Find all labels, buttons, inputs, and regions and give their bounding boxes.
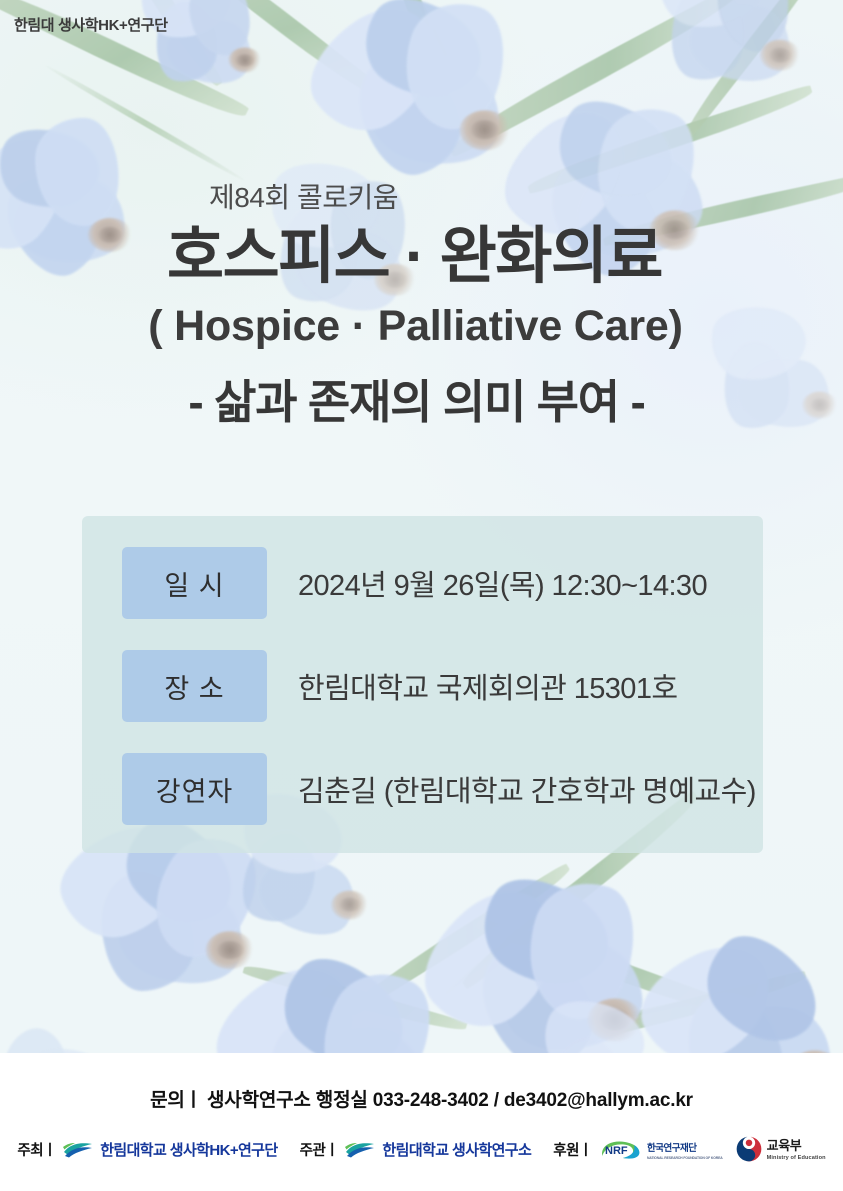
- flower-core: [331, 891, 368, 920]
- ministry-of-education-logo: 교육부 Ministry of Education: [736, 1136, 826, 1162]
- detail-label-speaker: 강연자: [122, 753, 267, 825]
- poster: 한림대 생사학HK+연구단 제84회 콜로키움 호스피스 · 완화의료 ( Ho…: [0, 0, 843, 1191]
- flower-core: [229, 47, 262, 72]
- leaf-decoration: [475, 911, 754, 1028]
- sponsor-lead-label: 후원ㅣ: [553, 1139, 592, 1160]
- petal: [652, 0, 769, 37]
- page-title: 호스피스 · 완화의료: [0, 224, 843, 291]
- flower-decoration: [700, 960, 843, 1053]
- petal: [248, 840, 368, 950]
- flower-core: [760, 40, 800, 71]
- petal: [661, 0, 756, 88]
- petal: [100, 871, 196, 992]
- petal: [510, 869, 651, 1030]
- table-row: 장 소 한림대학교 국제회의관 15301호: [122, 650, 763, 722]
- detail-value-date: 2024년 9월 26일(목) 12:30~14:30: [267, 562, 707, 604]
- hallym-wave-icon: [63, 1141, 93, 1158]
- headline-block: 제84회 콜로키움 호스피스 · 완화의료 ( Hospice · Pallia…: [0, 176, 843, 433]
- flower-decoration: [170, 0, 320, 130]
- flower-decoration: [490, 900, 740, 1053]
- moe-korean-name: 교육부: [767, 1138, 802, 1153]
- petal: [197, 950, 377, 1053]
- event-details-panel: 일 시 2024년 9월 26일(목) 12:30~14:30 장 소 한림대학…: [82, 516, 763, 853]
- petal: [696, 994, 839, 1053]
- organizer-group: 주관ㅣ 한림대학교 생사학연구소: [300, 1139, 532, 1160]
- flower-core: [206, 931, 254, 969]
- host-lead-label: 주최ㅣ: [17, 1139, 56, 1160]
- leaf-decoration: [562, 970, 809, 1047]
- organizer-name: 한림대학교 생사학연구소: [382, 1139, 531, 1160]
- nrf-english-name: NATIONAL RESEARCH FOUNDATION OF KOREA: [647, 1156, 723, 1160]
- nrf-korean-name: 한국연구재단: [647, 1143, 696, 1154]
- petal: [10, 1036, 117, 1053]
- page-tagline: - 삶과 존재의 의미 부여 -: [0, 373, 843, 433]
- petal: [159, 4, 261, 95]
- petal: [261, 1011, 383, 1053]
- flower-decoration: [280, 985, 530, 1053]
- flower-core: [588, 998, 643, 1041]
- host-name: 한림대학교 생사학HK+연구단: [100, 1139, 277, 1160]
- detail-value-place: 한림대학교 국제회의관 15301호: [267, 665, 677, 707]
- flower-core: [460, 110, 511, 150]
- petal: [688, 917, 833, 1053]
- petal: [681, 0, 800, 94]
- leaf-decoration: [171, 0, 388, 108]
- petal: [109, 872, 255, 998]
- hallym-wave-icon: [345, 1141, 375, 1158]
- leaf-decoration: [680, 0, 840, 137]
- flower-decoration: [570, 1030, 740, 1053]
- leaf-decoration: [242, 959, 468, 1038]
- petal: [347, 0, 496, 121]
- detail-value-speaker: 김춘길 (한림대학교 간호학과 명예교수): [267, 768, 756, 810]
- stem-decoration: [44, 63, 246, 183]
- leaf-decoration: [364, 0, 445, 81]
- nrf-text-block: 한국연구재단 NATIONAL RESEARCH FOUNDATION OF K…: [647, 1139, 723, 1160]
- petal: [298, 955, 451, 1053]
- leaf-decoration: [345, 862, 575, 1015]
- organizer-lead-label: 주관ㅣ: [300, 1139, 339, 1160]
- footer: 문의ㅣ 생사학연구소 행정실 033-248-3402 / de3402@hal…: [0, 1053, 843, 1191]
- moe-english-name: Ministry of Education: [767, 1155, 826, 1161]
- petal: [188, 0, 251, 57]
- petal: [401, 871, 585, 1051]
- petal: [263, 938, 420, 1053]
- flower-decoration: [20, 1020, 180, 1053]
- stem-decoration: [394, 0, 486, 133]
- petal: [468, 927, 609, 1053]
- moe-text-block: 교육부 Ministry of Education: [767, 1138, 826, 1161]
- organization-row: 주최ㅣ 한림대학교 생사학HK+연구단 주관ㅣ: [0, 1136, 843, 1162]
- table-row: 일 시 2024년 9월 26일(목) 12:30~14:30: [122, 547, 763, 619]
- petal: [626, 931, 790, 1053]
- petal: [501, 938, 646, 1053]
- brand-label: 한림대 생사학HK+연구단: [14, 14, 168, 35]
- petal: [0, 1020, 81, 1053]
- detail-label-place: 장 소: [122, 650, 267, 722]
- petal: [532, 987, 654, 1053]
- petal: [537, 1030, 636, 1053]
- petal: [348, 44, 471, 185]
- petal: [291, 0, 460, 151]
- colloquium-number: 제84회 콜로키움: [0, 176, 843, 216]
- flower-decoration: [120, 845, 340, 1053]
- stem-decoration: [522, 985, 758, 1040]
- petal: [684, 988, 788, 1053]
- contact-line: 문의ㅣ 생사학연구소 행정실 033-248-3402 / de3402@hal…: [0, 1085, 843, 1112]
- petal: [363, 52, 509, 176]
- nrf-logo: NRF 한국연구재단 NATIONAL RESEARCH FOUNDATION …: [599, 1139, 723, 1160]
- detail-label-date: 일 시: [122, 547, 267, 619]
- sponsor-group: 후원ㅣ NRF 한국연구재단 NATIONAL RESEARCH FOUNDAT…: [553, 1136, 825, 1162]
- table-row: 강연자 김춘길 (한림대학교 간호학과 명예교수): [122, 753, 763, 825]
- petal: [285, 1022, 431, 1053]
- page-subtitle-en: ( Hospice · Palliative Care): [0, 297, 843, 355]
- petal: [712, 0, 793, 54]
- flower-decoration: [690, 0, 843, 140]
- host-group: 주최ㅣ 한림대학교 생사학HK+연구단: [17, 1139, 277, 1160]
- svg-text:NRF: NRF: [605, 1145, 628, 1157]
- leaf-decoration: [444, 0, 746, 158]
- petal: [387, 0, 519, 140]
- stem-decoration: [444, 850, 616, 996]
- petal: [464, 858, 625, 1011]
